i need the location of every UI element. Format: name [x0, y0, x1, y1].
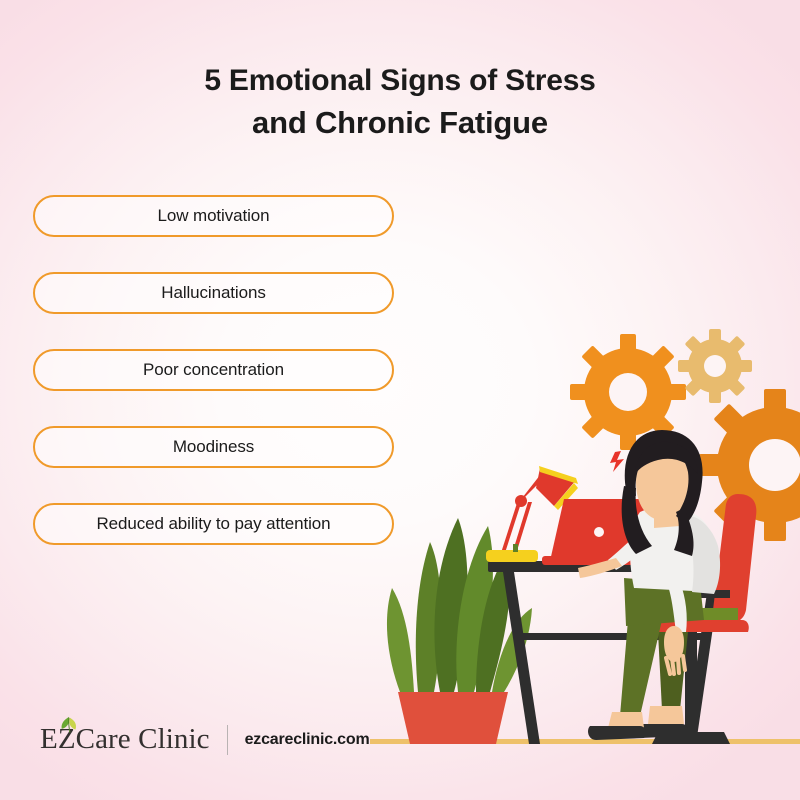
symptom-item-5[interactable]: Reduced ability to pay attention [33, 503, 394, 545]
symptom-label: Poor concentration [143, 360, 284, 380]
symptom-label: Moodiness [173, 437, 254, 457]
infographic-canvas: 5 Emotional Signs of Stress and Chronic … [0, 0, 800, 800]
symptom-item-2[interactable]: Hallucinations [33, 272, 394, 314]
title-line-2: and Chronic Fatigue [0, 102, 800, 144]
symptom-label: Reduced ability to pay attention [96, 514, 330, 534]
symptom-label: Hallucinations [161, 283, 265, 303]
leaf-icon [58, 715, 80, 737]
title-line-1: 5 Emotional Signs of Stress [0, 60, 800, 102]
gear-small-top [678, 329, 752, 403]
footer: EZCare Clinic ezcareclinic.com [36, 723, 369, 756]
footer-divider [227, 725, 228, 755]
symptom-label: Low motivation [158, 206, 270, 226]
symptom-item-4[interactable]: Moodiness [33, 426, 394, 468]
page-title: 5 Emotional Signs of Stress and Chronic … [0, 60, 800, 144]
symptom-list: Low motivation Hallucinations Poor conce… [33, 195, 394, 580]
symptom-item-1[interactable]: Low motivation [33, 195, 394, 237]
symptom-item-3[interactable]: Poor concentration [33, 349, 394, 391]
bolt-left [610, 451, 624, 472]
site-url[interactable]: ezcareclinic.com [245, 731, 370, 749]
stress-illustration [340, 320, 800, 760]
